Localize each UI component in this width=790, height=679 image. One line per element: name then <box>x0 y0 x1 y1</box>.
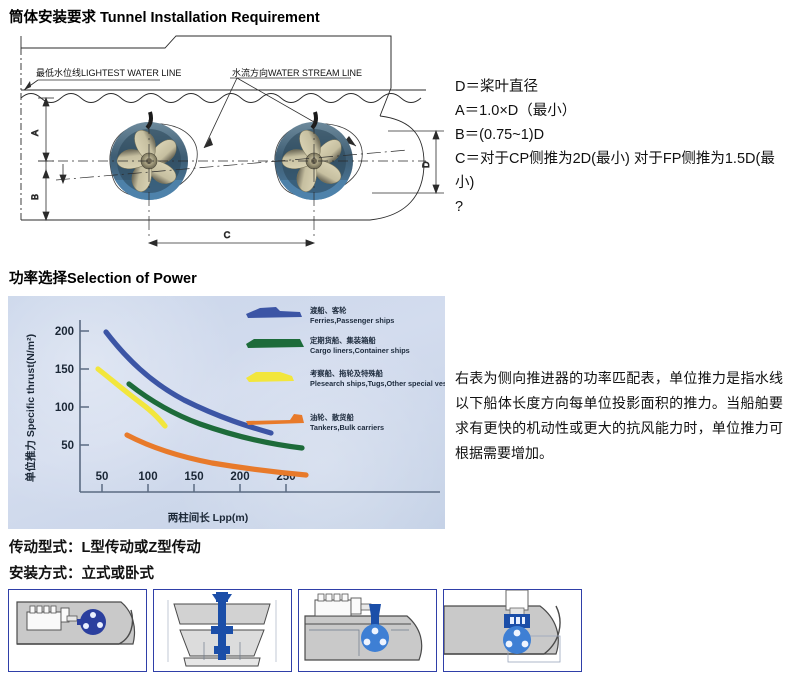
formula-line-c: C＝对于CP侧推为2D(最小) 对于FP侧推为1.5D(最小) <box>455 147 785 195</box>
formula-line-d: D＝桨叶直径 <box>455 75 785 99</box>
legend-label-tankers-en: Tankers,Bulk carriers <box>310 423 384 432</box>
research-ship-icon <box>246 372 294 382</box>
dimension-b-label: B <box>30 194 40 200</box>
cargo-ship-icon <box>246 339 304 348</box>
formula-line-b: B＝(0.75~1)D <box>455 123 785 147</box>
formula-line-a: A＝1.0×D（最小） <box>455 99 785 123</box>
dimension-small-gap <box>60 164 66 183</box>
legend-label-tankers-cn: 油轮、散货船 <box>310 413 354 422</box>
dimension-d: D <box>372 131 444 193</box>
chart-legend: 渡船、客轮 Ferries,Passenger ships 定期货船、集装箱船 … <box>246 306 445 432</box>
x-tick-50: 50 <box>96 471 109 483</box>
dimension-c-label: C <box>224 230 231 240</box>
power-section-title: 功率选择Selection of Power <box>9 267 197 288</box>
legend-item-research: 考察船、拖轮及特殊船 Plesearch ships,Tugs,Other sp… <box>246 369 445 388</box>
water-stream-line-label: 水流方向WATER STREAM LINE <box>232 67 362 78</box>
tanker-ship-icon <box>246 414 304 425</box>
legend-label-cargo-cn: 定期货船、集装箱船 <box>309 336 376 345</box>
power-selection-note: 右表为侧向推进器的功率匹配表，单位推力是指水线以下船体长度方向每单位投影面积的推… <box>455 366 783 466</box>
tunnel-section-title: 筒体安装要求 Tunnel Installation Requirement <box>9 6 320 27</box>
legend-label-cargo-en: Cargo liners,Container ships <box>310 346 410 355</box>
y-tick-200: 200 <box>55 326 74 338</box>
legend-label-ferries-en: Ferries,Passenger ships <box>310 316 394 325</box>
dimension-c: C <box>149 230 314 246</box>
legend-label-ferries-cn: 渡船、客轮 <box>310 306 347 315</box>
vertical-motor-icon <box>503 590 531 654</box>
y-axis-ticks <box>80 331 89 445</box>
legend-label-research-cn: 考察船、拖轮及特殊船 <box>310 369 384 378</box>
x-tick-200: 200 <box>230 471 249 483</box>
dimension-b: B <box>30 161 54 220</box>
tunnel-installation-diagram: 最低水位线LIGHTEST WATER LINE 水流方向WATER STREA… <box>8 28 446 260</box>
legend-item-cargo: 定期货船、集装箱船 Cargo liners,Container ships <box>246 336 410 355</box>
water-surface-line <box>21 90 426 103</box>
legend-item-ferries: 渡船、客轮 Ferries,Passenger ships <box>246 306 394 325</box>
tunnel-formula-list: D＝桨叶直径 A＝1.0×D（最小） B＝(0.75~1)D C＝对于CP侧推为… <box>455 75 785 219</box>
x-tick-150: 150 <box>184 471 203 483</box>
dimension-a: A <box>30 98 54 161</box>
series-curve-tankers <box>127 435 306 475</box>
y-axis-title: 单位推力 Specific thrust(N/m²) <box>24 334 37 482</box>
thumbnail-vertical-shaft-thruster-section[interactable] <box>153 589 292 672</box>
legend-label-research-en: Plesearch ships,Tugs,Other special vesse… <box>310 379 445 388</box>
x-axis-title: 两柱间长 Lpp(m) <box>168 511 249 524</box>
dimension-d-label: D <box>421 161 431 168</box>
y-tick-50: 50 <box>61 440 74 452</box>
mounting-type-line: 安装方式：立式或卧式 <box>9 562 154 583</box>
y-tick-100: 100 <box>55 402 74 414</box>
series-curve-research <box>98 369 165 426</box>
drive-type-line: 传动型式：L型传动或Z型传动 <box>9 536 201 557</box>
formula-line-question: ? <box>455 195 785 219</box>
thumbnail-horizontal-engine-l-drive-thruster[interactable] <box>298 589 437 672</box>
hull-bottom-outline <box>21 116 424 220</box>
x-tick-100: 100 <box>138 471 157 483</box>
chart-svg: 200 150 100 50 50 100 150 200 250 单位推力 S… <box>8 296 445 529</box>
specific-thrust-chart: 200 150 100 50 50 100 150 200 250 单位推力 S… <box>8 296 445 529</box>
y-tick-150: 150 <box>55 364 74 376</box>
thumbnail-horizontal-engine-driven-thruster[interactable] <box>8 589 147 672</box>
ferry-ship-icon <box>246 307 302 318</box>
dimension-a-label: A <box>30 130 40 136</box>
tunnel-diagram-svg: 最低水位线LIGHTEST WATER LINE 水流方向WATER STREA… <box>8 28 446 260</box>
thumbnail-vertical-motor-mounted-thruster[interactable] <box>443 589 582 672</box>
x-axis-ticks <box>102 484 286 492</box>
installation-thumbnail-row <box>8 589 582 672</box>
lightest-water-line-label: 最低水位线LIGHTEST WATER LINE <box>36 67 181 78</box>
